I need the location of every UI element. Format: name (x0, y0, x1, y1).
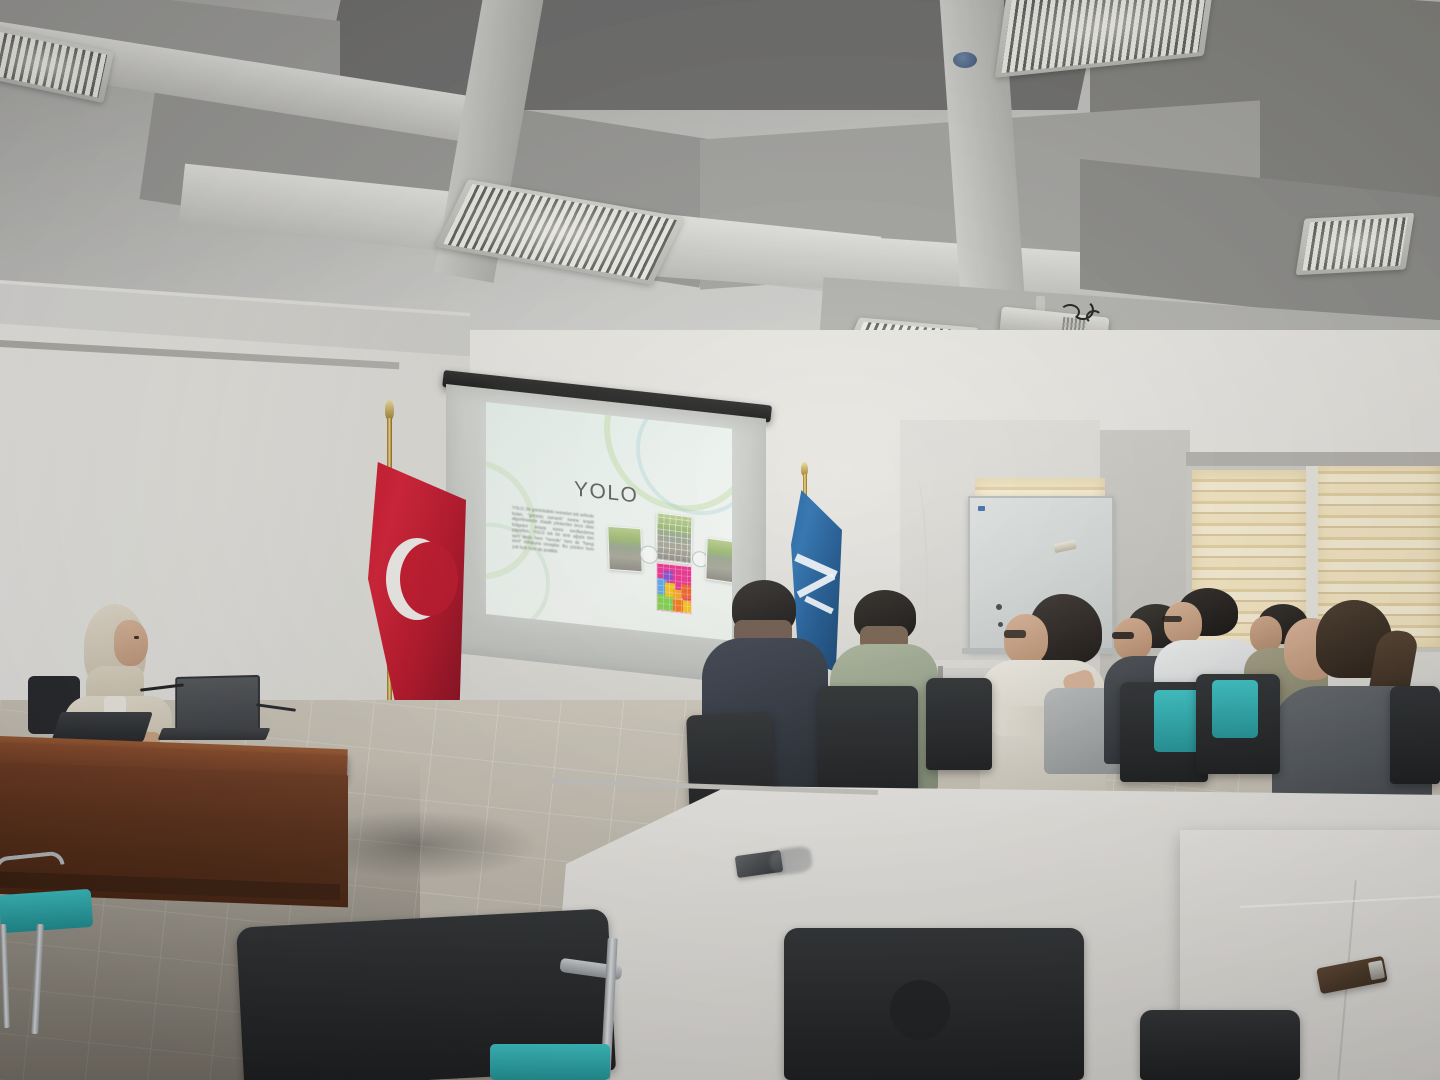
attendee-4-glasses (1112, 632, 1134, 639)
chair-row-3[interactable] (926, 678, 992, 770)
slide-diagram-class-heatmap (656, 562, 692, 614)
laptop-screen[interactable] (175, 675, 260, 733)
attendee-3-glasses (1004, 630, 1026, 638)
slide-body-text: YOLO, bir görüntüdeki nesneleri tek sefe… (512, 505, 594, 558)
ceiling-light-5 (1296, 213, 1415, 275)
projector-cables (1060, 300, 1104, 330)
attendee-5-glasses (1162, 616, 1182, 622)
chair-row-2[interactable] (818, 686, 918, 798)
chair-row-6[interactable] (1390, 686, 1440, 784)
attendee-5-face (1164, 602, 1202, 644)
smoke-detector (953, 52, 977, 68)
laptop-base[interactable] (158, 728, 271, 740)
foreground-chair-back-3[interactable] (1140, 1010, 1300, 1080)
chair-seat-left[interactable] (0, 889, 93, 933)
attendee-4-face (1114, 618, 1152, 660)
turkish-flag-finial (385, 400, 394, 420)
attendee-3-face (1004, 614, 1048, 664)
classroom-scene: YOLO YOLO, bir görüntüdeki nesneleri tek… (0, 0, 1440, 1080)
foreground-chair-seat[interactable] (490, 1044, 610, 1080)
chair-caster (890, 980, 950, 1040)
slide-diagram-input-image (607, 526, 643, 573)
slide-diagram-final-detections (705, 537, 732, 583)
presenter-eye (134, 636, 139, 639)
slide-diagram-bounding-boxes (656, 512, 693, 564)
presenter-face (114, 620, 148, 666)
secondary-laptop[interactable] (51, 712, 153, 742)
chair-seat-teal-2[interactable] (1212, 680, 1258, 738)
blind-headrail (1186, 452, 1440, 466)
presentation-slide: YOLO YOLO, bir görüntüdeki nesneleri tek… (486, 402, 732, 641)
